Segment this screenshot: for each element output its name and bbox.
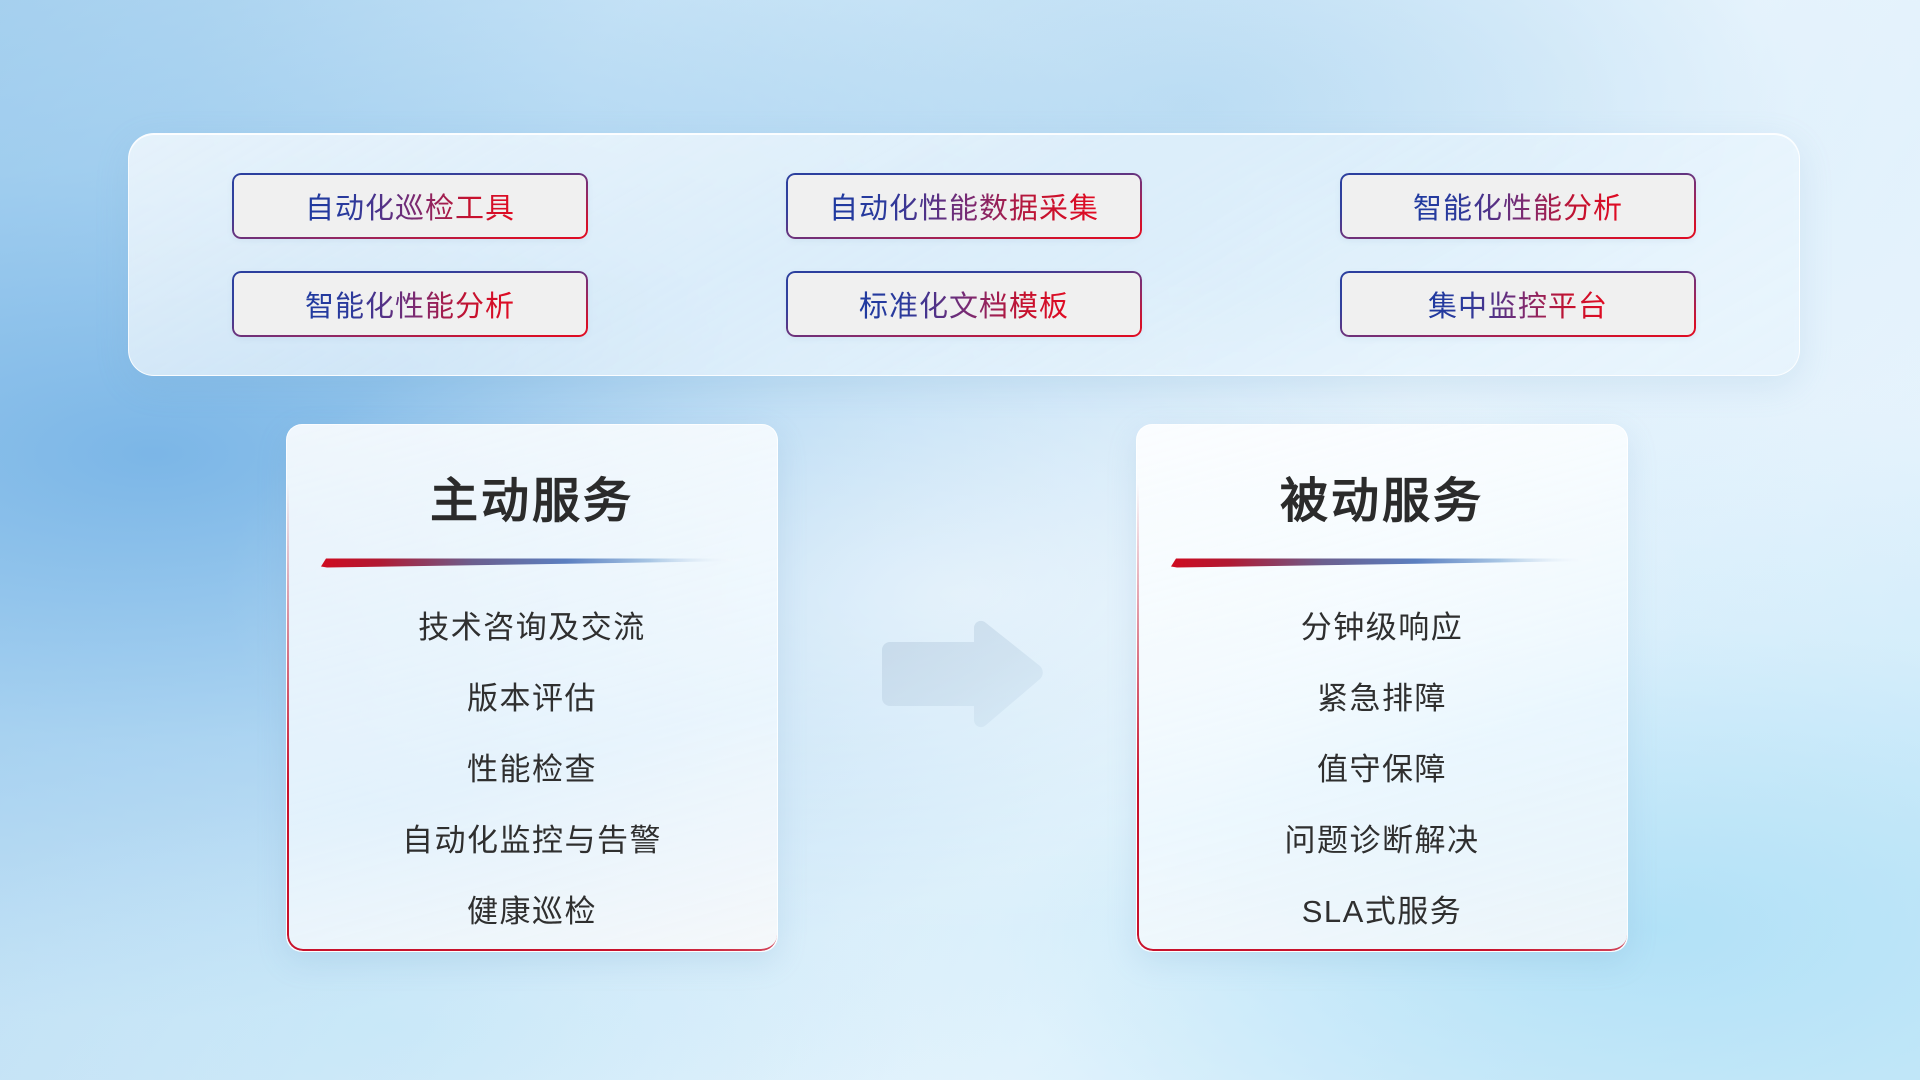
list-item: 健康巡检	[467, 886, 597, 931]
capability-tag-label: 智能化性能分析	[1413, 185, 1623, 227]
list-item: 问题诊断解决	[1285, 815, 1480, 860]
list-item: 值守保障	[1317, 744, 1447, 789]
capability-tag-label: 标准化文档模板	[859, 283, 1069, 325]
list-item: 分钟级响应	[1301, 602, 1464, 647]
service-item-list: 技术咨询及交流 版本评估 性能检查 自动化监控与告警 健康巡检	[287, 602, 777, 931]
list-item: 版本评估	[467, 673, 597, 718]
capability-tag[interactable]: 集中监控平台	[1340, 271, 1696, 337]
capability-tag-label: 自动化性能数据采集	[829, 185, 1099, 227]
list-item: 自动化监控与告警	[402, 815, 662, 860]
list-item: 性能检查	[467, 744, 597, 789]
card-title: 主动服务	[287, 461, 777, 531]
list-item: SLA式服务	[1302, 886, 1463, 931]
capability-tag-label: 智能化性能分析	[305, 283, 515, 325]
arrow-right-icon	[872, 614, 1048, 734]
proactive-service-card: 主动服务 技术咨询及交流 版本评估 性能检查	[286, 424, 778, 952]
service-item-list: 分钟级响应 紧急排障 值守保障 问题诊断解决 SLA式服务	[1137, 602, 1627, 931]
capabilities-panel: 自动化巡检工具 自动化性能数据采集 智能化性能分析 智能化性能分析 标准化文档模…	[128, 133, 1800, 376]
capability-tag[interactable]: 智能化性能分析	[1340, 173, 1696, 239]
list-item: 紧急排障	[1317, 673, 1447, 718]
card-title: 被动服务	[1137, 461, 1627, 531]
capability-tag-label: 自动化巡检工具	[305, 185, 515, 227]
capability-row-2: 智能化性能分析 标准化文档模板 集中监控平台	[129, 271, 1799, 337]
capability-row-1: 自动化巡检工具 自动化性能数据采集 智能化性能分析	[129, 173, 1799, 239]
diagram-canvas: 自动化巡检工具 自动化性能数据采集 智能化性能分析 智能化性能分析 标准化文档模…	[0, 0, 1920, 1080]
list-item: 技术咨询及交流	[418, 602, 646, 647]
capability-tag[interactable]: 自动化巡检工具	[232, 173, 588, 239]
capability-tag-label: 集中监控平台	[1428, 283, 1608, 325]
capability-tag[interactable]: 智能化性能分析	[232, 271, 588, 337]
capability-tag[interactable]: 标准化文档模板	[786, 271, 1142, 337]
title-divider	[1171, 557, 1593, 568]
capability-tag[interactable]: 自动化性能数据采集	[786, 173, 1142, 239]
title-divider	[321, 557, 743, 568]
reactive-service-card: 被动服务 分钟级响应 紧急排障 值守保障	[1136, 424, 1628, 952]
